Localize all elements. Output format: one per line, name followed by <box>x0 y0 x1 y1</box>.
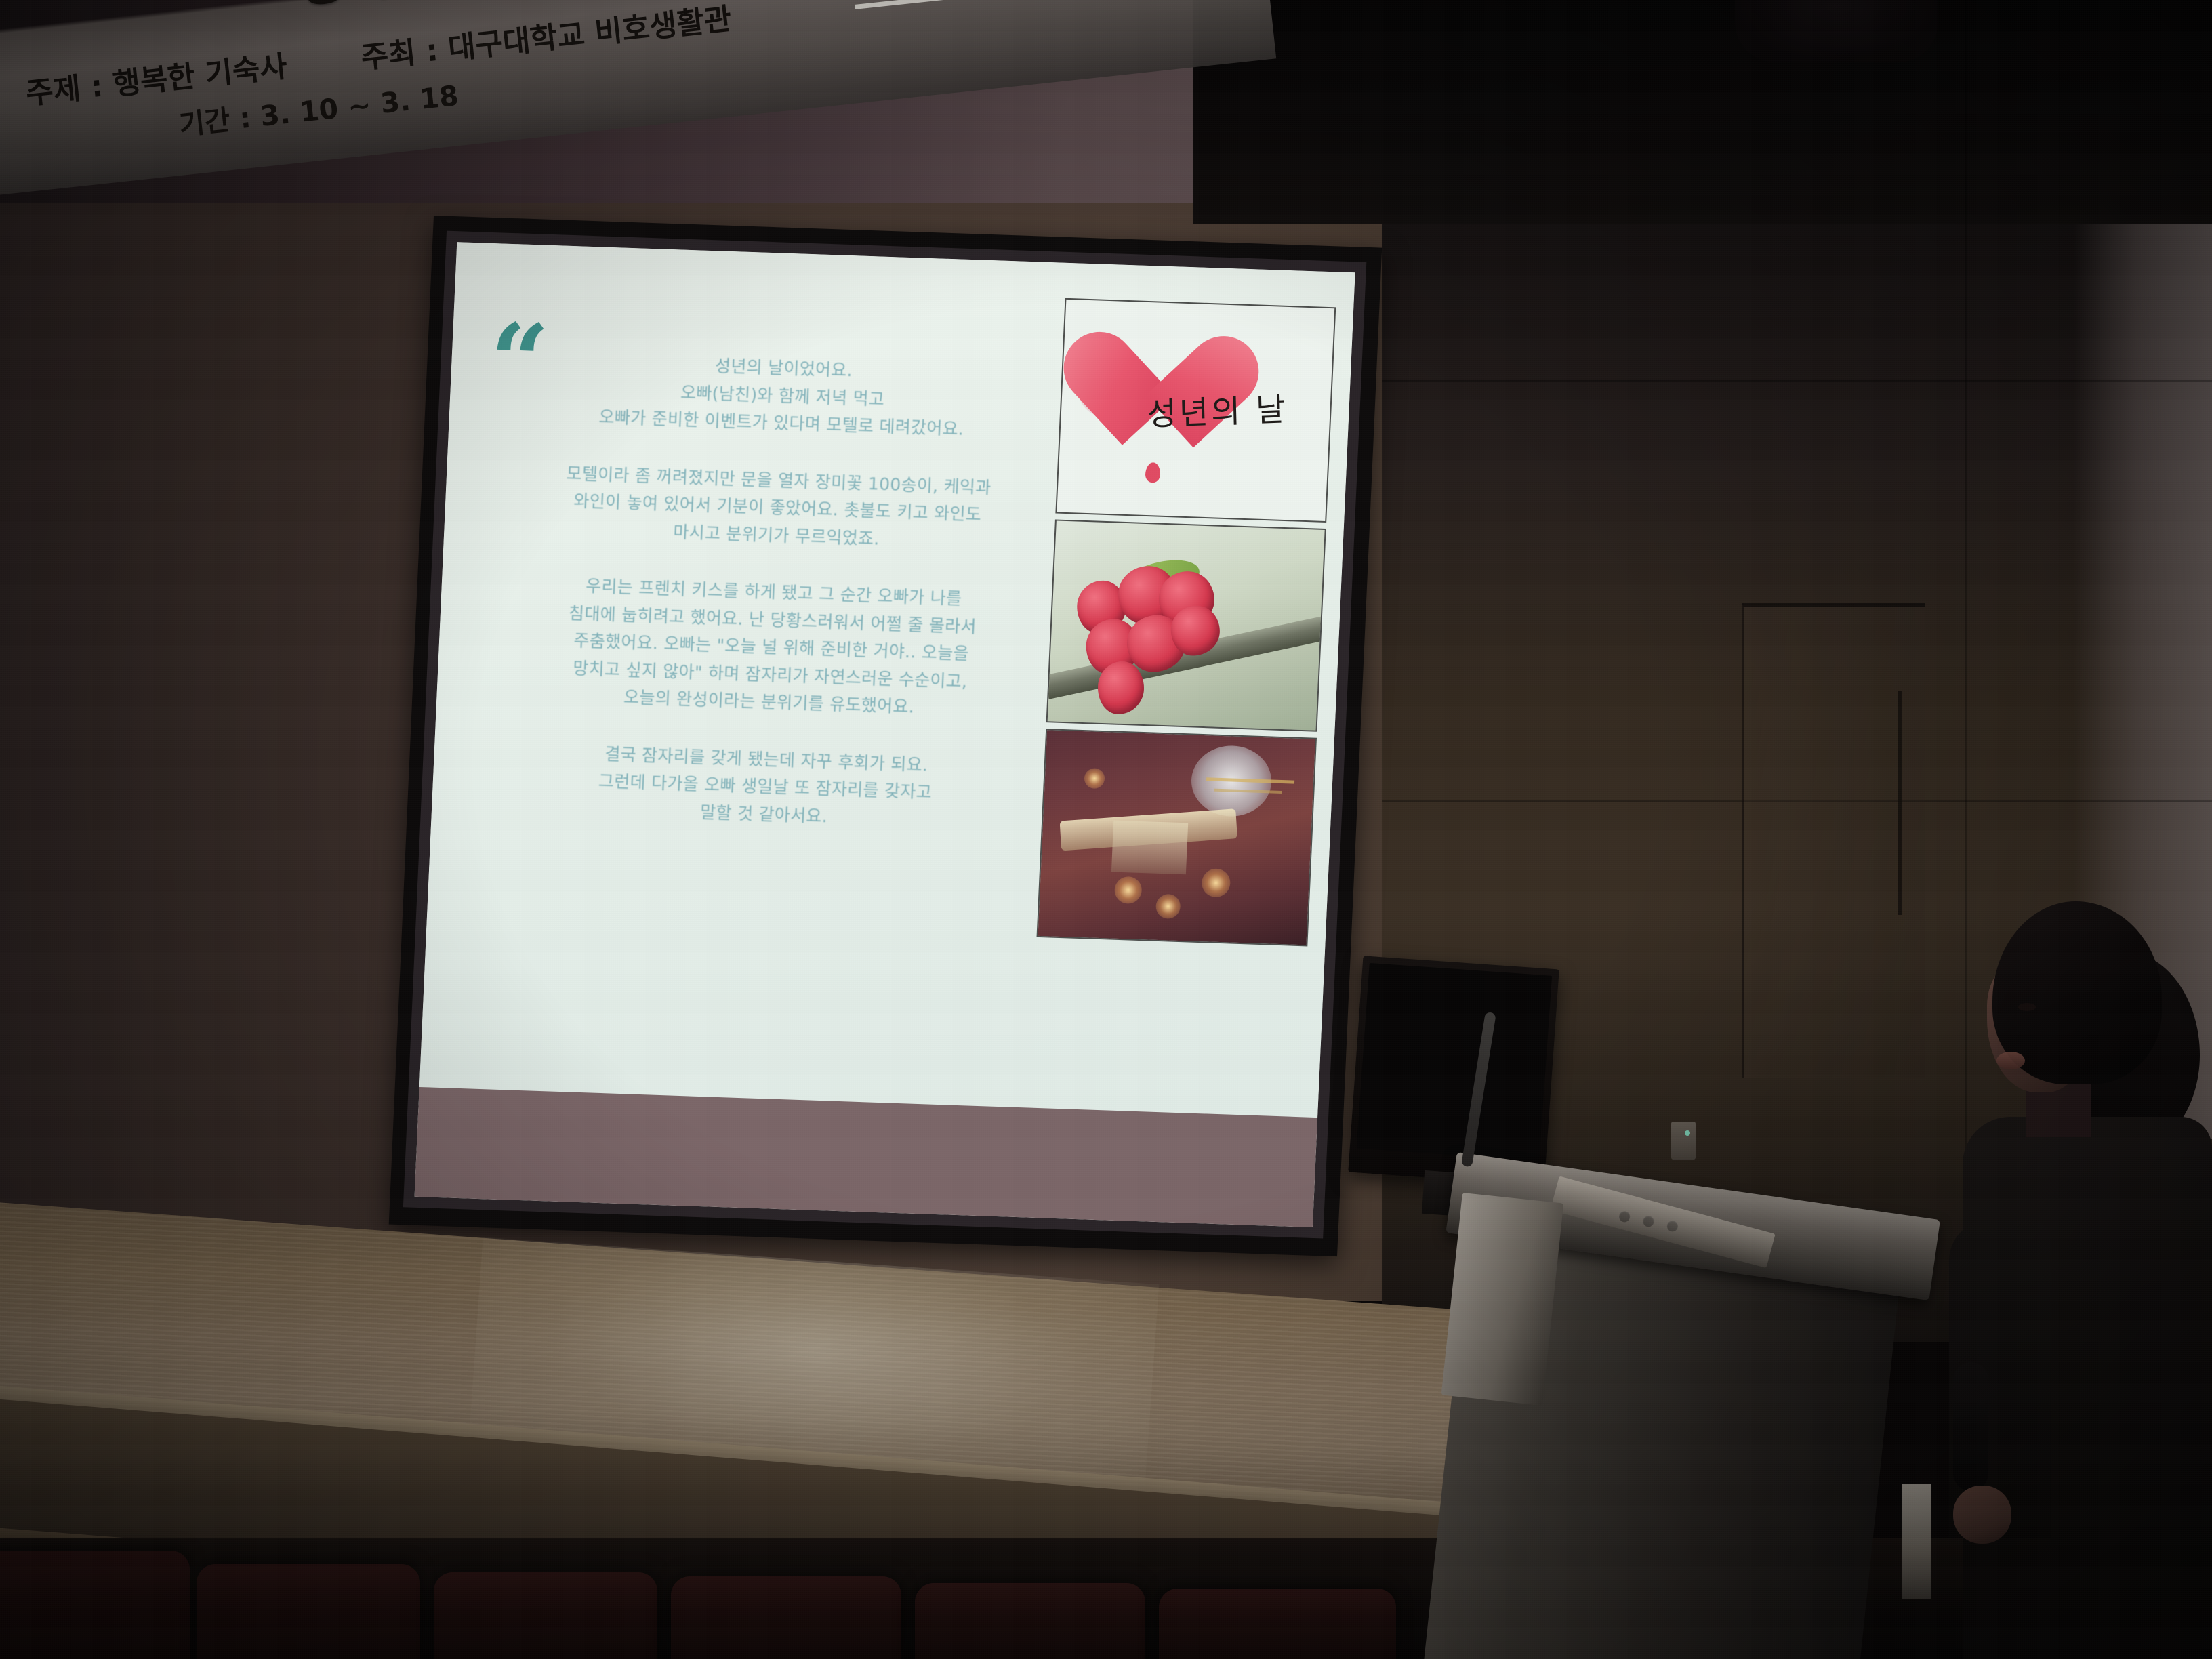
door-handle-icon[interactable] <box>1898 691 1902 915</box>
candle-flame-icon <box>1201 868 1231 897</box>
heart-coming-of-age-image: 성년의 날 <box>1055 298 1336 523</box>
table <box>1111 821 1188 875</box>
auditorium-seat <box>915 1583 1145 1659</box>
outlet-led-icon <box>1685 1130 1690 1136</box>
eye <box>2018 1003 2036 1011</box>
podium <box>1457 1152 1945 1659</box>
auditorium-lecture-photo: 행복한 기숙사 생활을 만들기 위한 인성교육 주제 : 행복한 기숙사 주최 … <box>0 0 2212 1659</box>
auditorium-seat <box>434 1572 657 1659</box>
candle-flame-icon <box>1155 894 1181 919</box>
slide-paragraph: 우리는 프렌치 키스를 하게 됐고 그 순간 오빠가 나를침대에 눕히려고 했어… <box>531 571 1012 724</box>
slide-paragraph: 성년의 날이었어요.오빠(남친)와 함께 저녁 먹고오빠가 준비한 이벤트가 있… <box>544 347 1021 445</box>
slide-quote-text: 성년의 날이었어요.오빠(남친)와 함께 저녁 먹고오빠가 준비한 이벤트가 있… <box>525 347 1021 866</box>
candlelit-room-image <box>1037 729 1317 946</box>
quote-open-icon: “ <box>489 330 550 393</box>
presentation-slide: “ ” 성년의 날이었어요.오빠(남친)와 함께 저녁 먹고오빠가 준비한 이벤… <box>415 242 1355 1227</box>
projection-screen: “ ” 성년의 날이었어요.오빠(남친)와 함께 저녁 먹고오빠가 준비한 이벤… <box>389 216 1382 1256</box>
podium-front-edge <box>1441 1193 1564 1406</box>
ceiling <box>1193 0 2212 224</box>
auditorium-seat <box>0 1551 190 1659</box>
confidence-monitor <box>1348 956 1559 1185</box>
candle-flame-icon <box>1084 768 1105 789</box>
screen-surface: “ ” 성년의 날이었어요.오빠(남친)와 함께 저녁 먹고오빠가 준비한 이벤… <box>403 231 1366 1239</box>
mouth <box>1996 1052 2025 1069</box>
auditorium-seat <box>671 1576 901 1659</box>
ceiling-speaker-icon <box>1735 0 1938 62</box>
auditorium-seat <box>1159 1589 1396 1659</box>
presenter-hand <box>1953 1486 2011 1544</box>
slide-body: “ ” 성년의 날이었어요.오빠(남친)와 함께 저녁 먹고오빠가 준비한 이벤… <box>419 242 1355 1118</box>
slide-paragraph: 결국 잠자리를 갖게 됐는데 자꾸 후회가 되요.그런데 다가올 오빠 생일날 … <box>526 738 1004 836</box>
slide-image-column: 성년의 날 <box>1037 298 1336 947</box>
red-roses-image <box>1046 519 1326 731</box>
slide-paragraph: 모텔이라 좀 꺼려졌지만 문을 열자 장미꽃 100송이, 케익과와인이 놓여 … <box>539 459 1017 557</box>
held-paper <box>1902 1484 1931 1599</box>
rose-icon <box>1097 661 1145 715</box>
handheld-microphone-icon <box>1953 1362 1988 1491</box>
presenter <box>1911 901 2212 1659</box>
monitor-screen <box>1357 963 1552 1161</box>
banner-host-label: 주최 : 대구대학교 비호생활관 <box>359 0 733 77</box>
candle-flame-icon <box>1114 876 1143 904</box>
wall-seam <box>1382 380 2212 382</box>
heart-image-caption: 성년의 날 <box>1147 382 1317 435</box>
auditorium-seat <box>197 1564 420 1659</box>
